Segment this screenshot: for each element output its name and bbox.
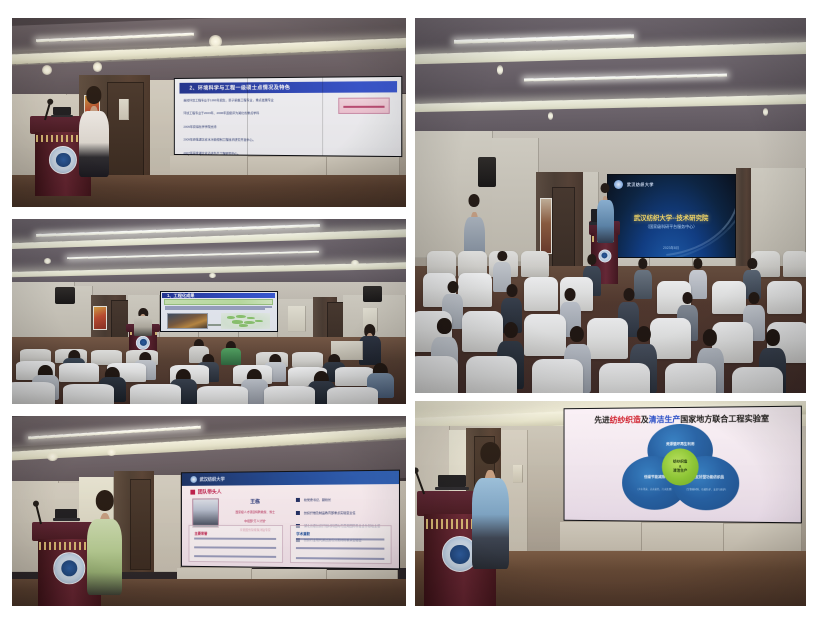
slide-title: 2、环境科学与工程一级硕士点情况及特色 — [179, 84, 290, 92]
slide-team-leader: 武汉纺织大学 团队带头人 王栋 国家级人才项目特聘教授、博士 中组部"万人计划"… — [182, 471, 399, 569]
venn-center: 纺纱织造 & 清洁生产 — [662, 448, 698, 485]
photo-1-speaker-podium: 2、环境科学与工程一级硕士点情况及特色 我校环境工程专业于1999年招生，原子染… — [12, 18, 406, 207]
slide-title-part: 及 — [640, 415, 648, 424]
photo-5-male-presenter-venn: 先进纺纱织造及清洁生产国家地方联合工程实验室 资源循环再生利用 （纤维回收、废料… — [415, 401, 806, 606]
slide-title-part: 清洁生产 — [648, 415, 680, 424]
slide-line: 2009年获批湖北省水污染控制工程技术研究开发中心。 — [183, 136, 345, 142]
slide-national-lab-venn: 先进纺纱织造及清洁生产国家地方联合工程实验室 资源循环再生利用 （纤维回收、废料… — [564, 407, 801, 522]
slide-photo — [167, 313, 209, 328]
room-door[interactable] — [130, 479, 151, 570]
logo-text: 武汉纺织大学 — [200, 476, 225, 482]
ceiling-downlight — [351, 260, 359, 266]
slide-title-part: 国家地方联合工程实验室 — [680, 414, 769, 424]
venn-lobe-label: 低碳节能减排 — [644, 475, 665, 480]
slide-line: 我校环境工程专业于1999年招生，原子染整工程专业，重点发展专业 — [183, 96, 345, 102]
leader-portrait — [193, 498, 220, 528]
logo-text: 武汉纺织大学 — [627, 182, 654, 188]
slide-title-institute: 武汉纺织大学 武汉纺织大学--技术研究院 （国家级科研平台服务中心） 2023年… — [608, 175, 735, 257]
slide-highlight-box — [164, 299, 273, 304]
slide-header: 武汉纺织大学 — [182, 471, 399, 487]
slide-environmental-discipline: 2、环境科学与工程一级硕士点情况及特色 我校环境工程专业于1999年招生，原子染… — [174, 77, 401, 157]
slide-title-bar: 2、环境科学与工程一级硕士点情况及特色 — [179, 81, 397, 94]
presenter — [472, 442, 509, 569]
presenter — [134, 308, 152, 336]
room-door[interactable] — [107, 82, 144, 182]
room-door[interactable] — [552, 187, 575, 273]
honors-column: 主要荣誉 — [189, 525, 284, 563]
slide-title-part: 纺纱织造 — [609, 415, 640, 424]
led-video-wall: 武汉纺织大学 团队带头人 王栋 国家级人才项目特聘教授、博士 中组部"万人计划"… — [181, 470, 400, 570]
led-video-wall: 先进纺纱织造及清洁生产国家地方联合工程实验室 资源循环再生利用 （纤维回收、废料… — [563, 406, 802, 523]
slide-title-text: 团队带头人 — [198, 489, 222, 496]
slide-line: 2007年获批湖北省清洁生产工程研究中心。 — [183, 150, 345, 156]
audience-member — [221, 341, 241, 365]
logo-mark — [614, 180, 623, 189]
venn-lobe-note: （生物基材料、功能防护、安全与防护） — [678, 488, 734, 492]
leader-credential: 中组部"万人计划" — [224, 519, 288, 523]
slide-title-bar: 1、工程化成果 — [162, 293, 275, 298]
slide-line: 环境工程专业于2003年、2006年连续评为湖北省重点学科 — [183, 110, 345, 115]
leader-credential: 国家级人才项目特聘教授、博士 — [224, 510, 288, 514]
role-item: 校党委书记、副校长 — [296, 497, 392, 502]
slide-title-part: 先进 — [594, 415, 609, 424]
venn-diagram: 资源循环再生利用 （纤维回收、废料再利用） 低碳节能减排 （少水印染、无水染色、… — [622, 423, 739, 510]
led-video-wall: 1、工程化成果 — [160, 291, 278, 332]
laptop — [438, 475, 465, 487]
led-video-wall: 2、环境科学与工程一级硕士点情况及特色 我校环境工程专业于1999年招生，原子染… — [173, 75, 402, 157]
venn-lobe-note: （少水印染、无水染色、污水处理） — [629, 487, 680, 491]
photo-collage: 2、环境科学与工程一级硕士点情况及特色 我校环境工程专业于1999年招生，原子染… — [0, 0, 820, 619]
led-video-wall: 武汉纺织大学 武汉纺织大学--技术研究院 （国家级科研平台服务中心） 2023年… — [607, 174, 736, 258]
wall-artwork — [93, 306, 106, 330]
photo-4-female-presenter: 武汉纺织大学 团队带头人 王栋 国家级人才项目特聘教授、博士 中组部"万人计划"… — [12, 416, 406, 606]
laptop — [53, 107, 71, 116]
role-item: 纺织纤维及制品教育部重点实验室主任 — [296, 511, 392, 515]
academic-roles-column: 学术兼职 — [290, 525, 392, 564]
slide-line: 2009年获得化学学院支持 — [183, 123, 345, 128]
presenter — [79, 86, 109, 177]
venn-lobe-label: 资源循环再生利用 — [666, 442, 695, 447]
slide-map-graphic — [221, 313, 270, 328]
academic-roles-title: 学术兼职 — [291, 526, 391, 538]
slide-certificate-image — [338, 97, 390, 113]
slide-title: 团队带头人 — [191, 489, 222, 496]
wall-speaker — [363, 286, 383, 303]
honors-title: 主要荣誉 — [189, 526, 282, 538]
wall-speaker — [478, 157, 496, 187]
university-logo: 武汉纺织大学 — [614, 180, 654, 189]
ceiling-downlight — [47, 452, 57, 461]
slide-engineering-results: 1、工程化成果 — [161, 292, 277, 331]
logo-mark — [191, 476, 198, 483]
leader-name: 王栋 — [224, 498, 288, 505]
ceiling-downlight — [93, 62, 102, 71]
photo-3-hall-overview: 1、工程化成果 — [12, 219, 406, 404]
presenter — [597, 183, 614, 243]
wall-portrait — [540, 198, 552, 254]
venn-center-line: 清洁生产 — [673, 469, 687, 474]
wall-speaker — [55, 287, 75, 304]
presenter — [87, 490, 122, 595]
slide-body: 我校环境工程专业于1999年招生，原子染整工程专业，重点发展专业 环境工程专业于… — [183, 96, 345, 156]
laptop — [55, 509, 77, 519]
photo-2-audience-title-slide: 武汉纺织大学 武汉纺织大学--技术研究院 （国家级科研平台服务中心） 2023年… — [415, 18, 806, 393]
slide-title: 1、工程化成果 — [162, 293, 194, 299]
